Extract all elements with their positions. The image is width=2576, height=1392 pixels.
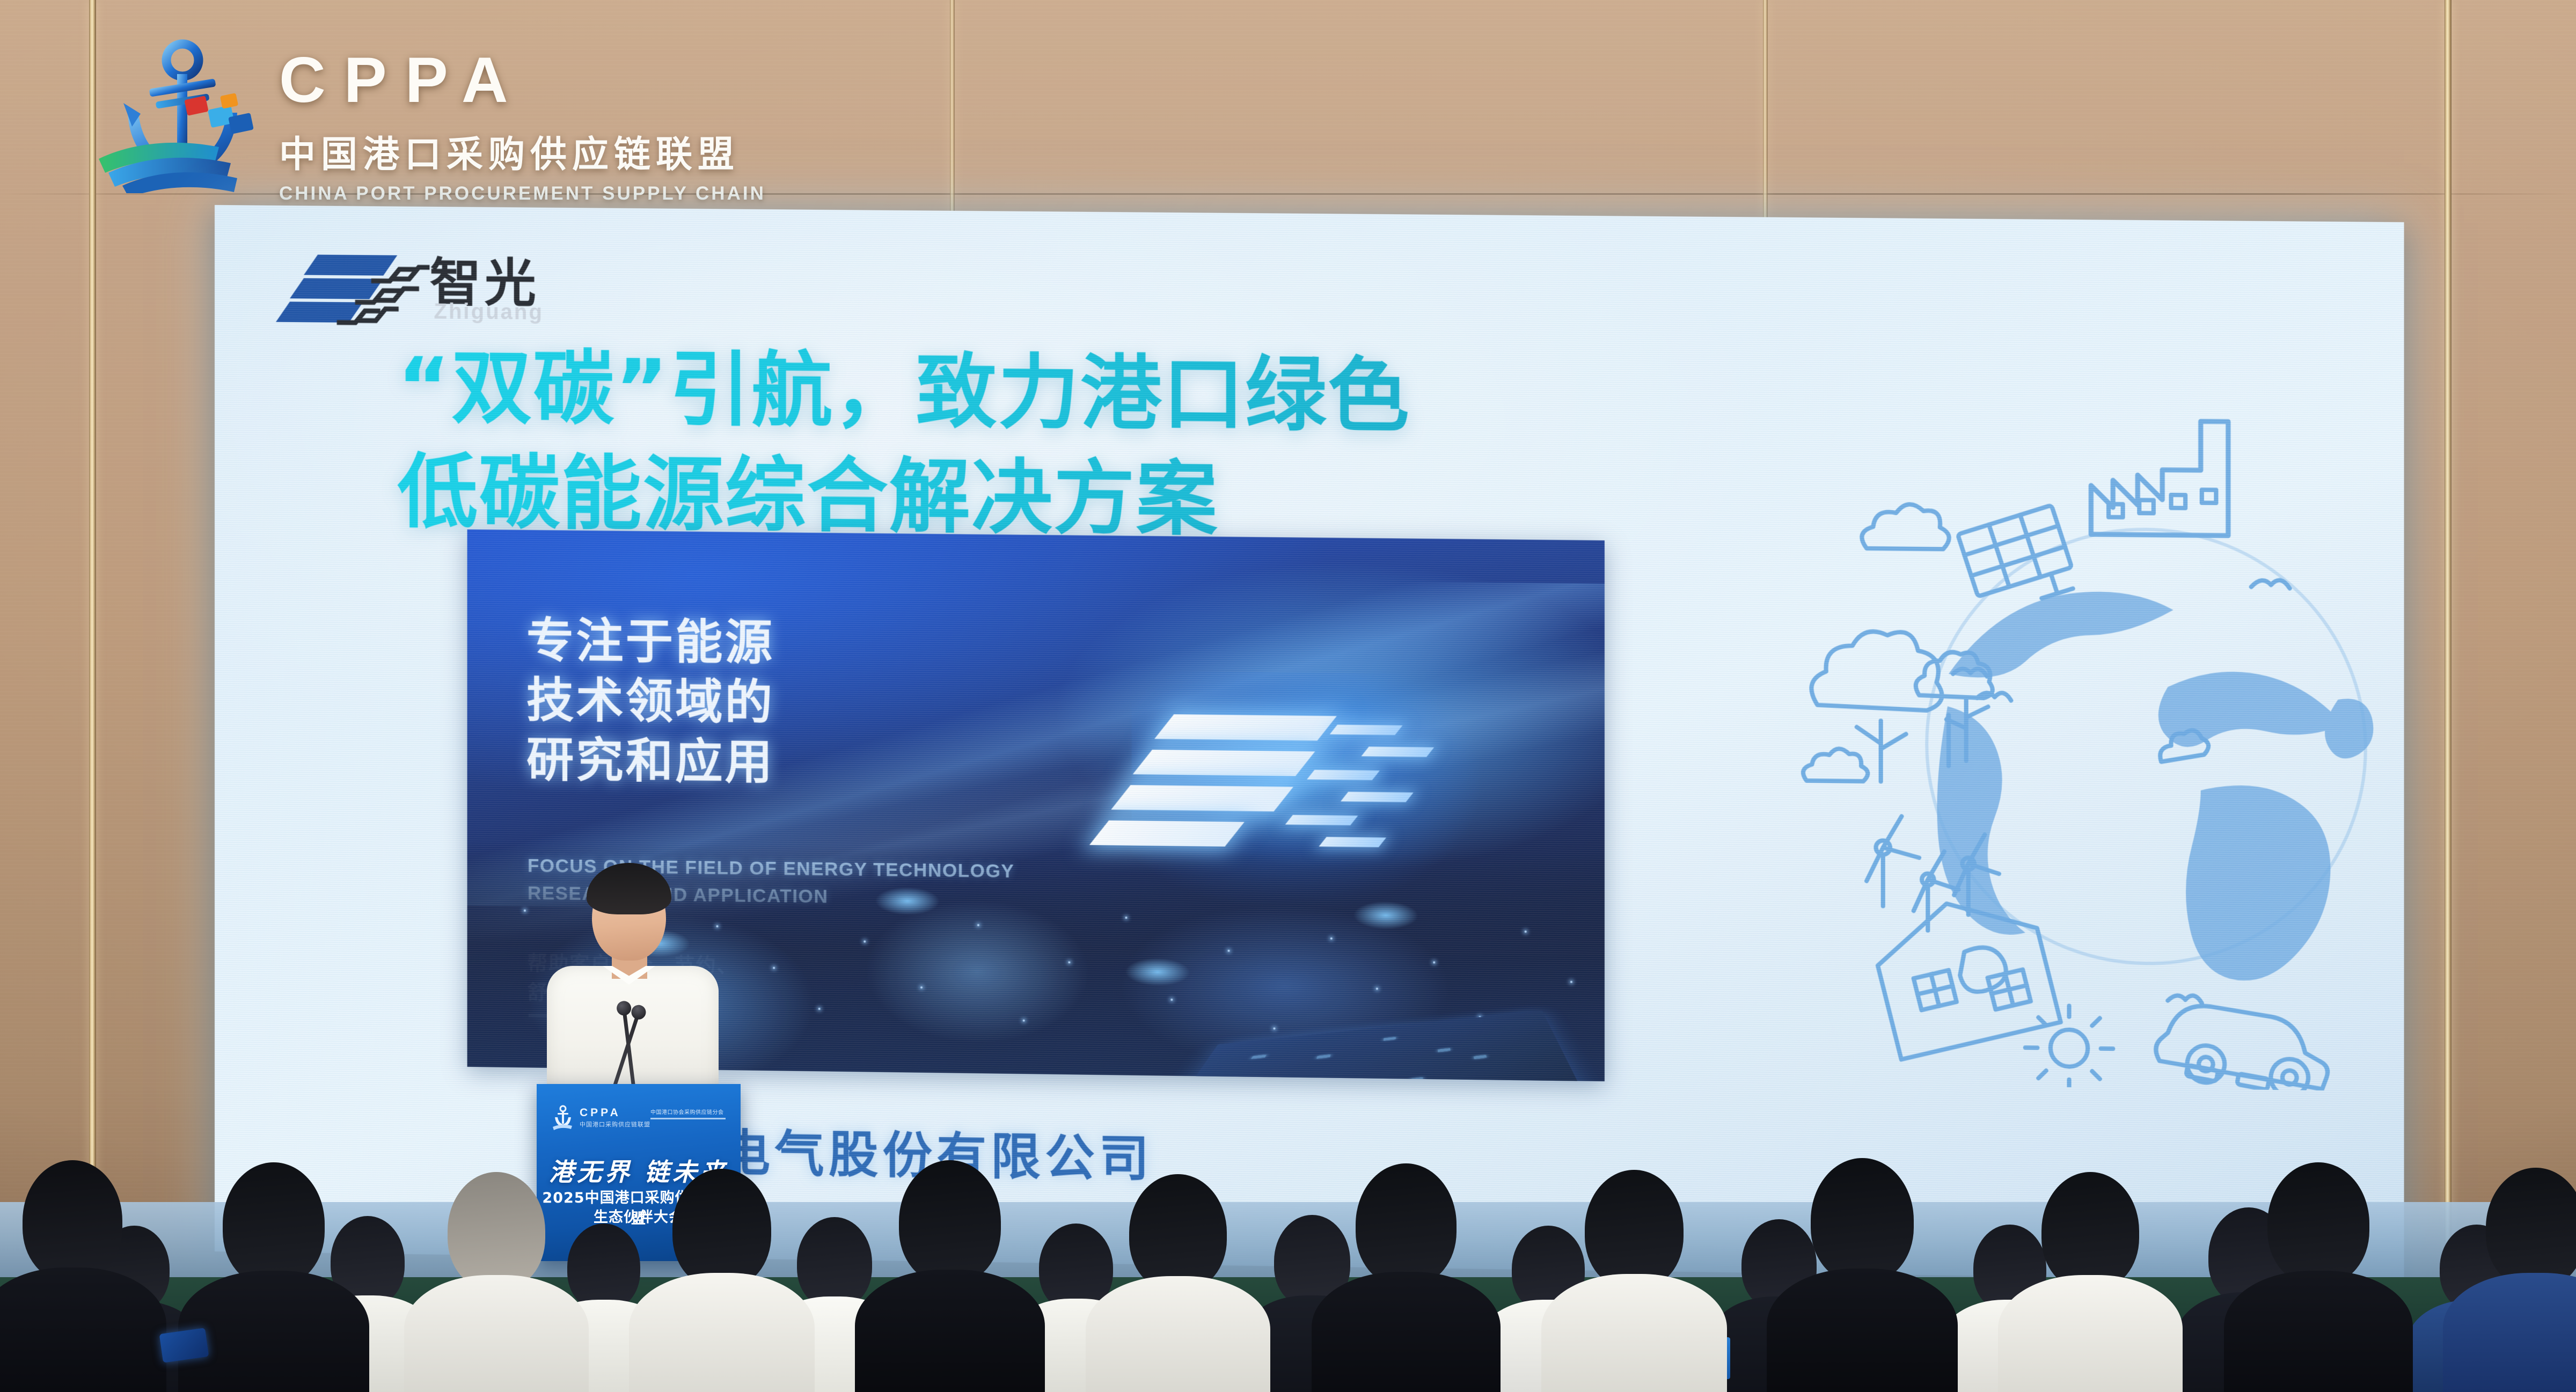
photo-headline: 专注于能源 技术领域的 研究和应用 <box>526 611 774 792</box>
podium-right-logo: 中国港口协会采购供应链分会 <box>650 1108 726 1119</box>
person-head <box>1356 1163 1457 1286</box>
audience-person-front <box>0 1161 161 1392</box>
person-shoulders <box>404 1275 589 1392</box>
person-head <box>2041 1172 2139 1290</box>
conference-photo-scene: CPPA 中国港口采购供应链联盟 CHINA PORT PROCUREMENT … <box>0 0 2576 1392</box>
audience-person-front <box>1315 1171 1497 1392</box>
audience-person-front <box>1771 1164 1953 1392</box>
cppa-acronym: CPPA <box>279 43 773 117</box>
audience-person-front <box>2002 1182 2179 1392</box>
eco-globe-doodle-icon <box>1784 369 2376 1091</box>
person-head <box>899 1160 1001 1284</box>
cppa-anchor-icon <box>551 1104 574 1131</box>
person-head <box>1129 1174 1227 1291</box>
photo-headline-line-3: 研究和应用 <box>526 730 774 792</box>
person-shoulders <box>1998 1275 2183 1392</box>
person-head <box>1585 1170 1684 1289</box>
podium-cppa-cn: 中国港口采购供应链联盟 <box>580 1120 650 1129</box>
person-shoulders <box>855 1270 1045 1392</box>
person-shoulders <box>0 1268 166 1392</box>
person-shoulders <box>2443 1273 2576 1392</box>
person-shoulders <box>178 1271 369 1392</box>
cppa-chinese-name: 中国港口采购供应链联盟 <box>279 124 773 178</box>
audience-person-front <box>408 1182 585 1392</box>
person-head <box>672 1169 771 1288</box>
podium-cppa-acronym: CPPA <box>580 1107 621 1119</box>
audience-person-front <box>1546 1179 1723 1392</box>
person-head <box>448 1172 545 1290</box>
audience-person-front <box>1089 1184 1267 1392</box>
person-head <box>2486 1168 2576 1288</box>
person-shoulders <box>1312 1272 1501 1392</box>
podium-logo-row: CPPA 中国港口采购供应链联盟 中国港口协会采购供应链分会 <box>551 1103 728 1133</box>
zhiguang-name-en: Zhiguang <box>434 299 544 325</box>
audience-person-front <box>182 1172 365 1392</box>
person-shoulders <box>2224 1271 2413 1392</box>
person-shoulders <box>629 1273 815 1392</box>
photo-headline-line-1: 专注于能源 <box>526 611 774 673</box>
person-head <box>1811 1158 1914 1283</box>
podium-right-note: 中国港口协会采购供应链分会 <box>650 1108 726 1116</box>
audience-area <box>0 1143 2576 1392</box>
person-head <box>2267 1162 2369 1285</box>
podium-right-rule <box>650 1118 726 1119</box>
speaker-hair <box>587 863 671 914</box>
slide-title-line-1: “双碳”引航，致力港口绿色 <box>397 335 1861 453</box>
audience-person-front <box>2227 1168 2410 1392</box>
person-shoulders <box>1086 1276 1270 1392</box>
audience-person-front <box>859 1167 1041 1392</box>
slide-title: “双碳”引航，致力港口绿色 低碳能源综合解决方案 <box>397 335 1861 559</box>
speaker-presenter <box>529 853 754 1105</box>
zhiguang-brand-logo: 智光 Zhiguang <box>268 235 602 340</box>
person-shoulders <box>1541 1274 1727 1392</box>
person-head <box>23 1160 122 1281</box>
anchor-logo-icon <box>80 32 258 193</box>
photo-headline-line-2: 技术领域的 <box>526 670 774 732</box>
audience-person-front <box>633 1177 810 1392</box>
audience-person-front <box>2447 1177 2576 1392</box>
cppa-wall-signage: CPPA 中国港口采购供应链联盟 CHINA PORT PROCUREMENT … <box>80 32 778 209</box>
person-head <box>223 1162 325 1286</box>
zhiguang-parallelogram-icon <box>268 245 429 327</box>
person-shoulders <box>1767 1269 1958 1392</box>
